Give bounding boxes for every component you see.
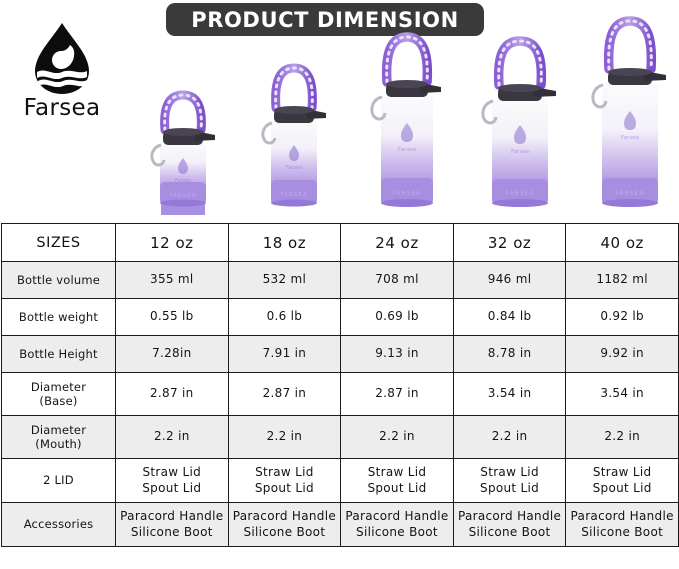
cell-value: Straw Lid Spout Lid <box>566 459 679 503</box>
brand-logo: Farsea <box>14 22 110 120</box>
cell-value: 0.6 lb <box>228 299 341 336</box>
row-label-line1: Diameter <box>4 380 113 394</box>
cell-line1: Straw Lid <box>456 465 564 480</box>
cell-line1: Paracord Handle <box>118 509 226 524</box>
header-32oz: 32 oz <box>453 224 566 262</box>
cell-line2: Silicone Boot <box>118 525 226 540</box>
table-row: Bottle Height 7.28in 7.91 in 9.13 in 8.7… <box>2 336 679 373</box>
cell-value: 0.84 lb <box>453 299 566 336</box>
row-label: Bottle Height <box>2 336 116 373</box>
row-label: Diameter (Base) <box>2 373 116 416</box>
cell-line2: Silicone Boot <box>456 525 564 540</box>
cell-line2: Spout Lid <box>231 481 339 496</box>
bottle-12oz: Farsea FARSEA <box>137 55 233 215</box>
cell-value: Straw Lid Spout Lid <box>453 459 566 503</box>
header-40oz: 40 oz <box>566 224 679 262</box>
cell-value: Paracord Handle Silicone Boot <box>116 503 229 547</box>
row-label: Bottle volume <box>2 262 116 299</box>
row-label-line2: (Mouth) <box>4 437 113 451</box>
table-row: Diameter (Base) 2.87 in 2.87 in 2.87 in … <box>2 373 679 416</box>
cell-value: 2.2 in <box>566 416 679 459</box>
cell-value: Straw Lid Spout Lid <box>341 459 454 503</box>
cell-value: 8.78 in <box>453 336 566 373</box>
svg-text:FARSEA: FARSEA <box>616 190 645 197</box>
cell-value: 7.28in <box>116 336 229 373</box>
cell-line2: Silicone Boot <box>343 525 451 540</box>
water-drop-wave-icon <box>29 22 95 96</box>
row-label: Accessories <box>2 503 116 547</box>
bottle-18oz: Farsea FARSEA <box>248 35 344 215</box>
bottle-32oz: Farsea FARSEA <box>468 23 572 215</box>
brand-name: Farsea <box>14 97 110 120</box>
cell-value: Paracord Handle Silicone Boot <box>453 503 566 547</box>
cell-line1: Straw Lid <box>118 465 226 480</box>
cell-value: 2.2 in <box>453 416 566 459</box>
cell-value: Paracord Handle Silicone Boot <box>566 503 679 547</box>
cell-value: 0.92 lb <box>566 299 679 336</box>
cell-value: 3.54 in <box>453 373 566 416</box>
cell-value: Straw Lid Spout Lid <box>228 459 341 503</box>
cell-value: Paracord Handle Silicone Boot <box>341 503 454 547</box>
table-row: Accessories Paracord Handle Silicone Boo… <box>2 503 679 547</box>
cell-value: 2.2 in <box>228 416 341 459</box>
cell-line1: Paracord Handle <box>568 509 676 524</box>
cell-value: 2.87 in <box>341 373 454 416</box>
cell-line2: Spout Lid <box>343 481 451 496</box>
cell-line2: Silicone Boot <box>231 525 339 540</box>
cell-line1: Paracord Handle <box>231 509 339 524</box>
specifications-table: SIZES 12 oz 18 oz 24 oz 32 oz 40 oz Bott… <box>1 223 679 547</box>
cell-value: 9.13 in <box>341 336 454 373</box>
cell-value: 2.2 in <box>116 416 229 459</box>
cell-line2: Spout Lid <box>568 481 676 496</box>
svg-text:FARSEA: FARSEA <box>393 190 422 197</box>
cell-line1: Straw Lid <box>343 465 451 480</box>
header-24oz: 24 oz <box>341 224 454 262</box>
cell-line1: Paracord Handle <box>343 509 451 524</box>
cell-value: 7.91 in <box>228 336 341 373</box>
cell-line1: Straw Lid <box>568 465 676 480</box>
svg-text:Farsea: Farsea <box>621 135 639 141</box>
product-dimension-infographic: Farsea PRODUCT DIMENSION <box>0 0 679 569</box>
svg-text:FARSEA: FARSEA <box>506 190 535 197</box>
row-label: Bottle weight <box>2 299 116 336</box>
cell-value: 355 ml <box>116 262 229 299</box>
svg-text:Farsea: Farsea <box>511 149 529 155</box>
cell-value: 946 ml <box>453 262 566 299</box>
cell-value: 9.92 in <box>566 336 679 373</box>
hero-section: Farsea PRODUCT DIMENSION <box>0 0 679 223</box>
cell-value: 0.69 lb <box>341 299 454 336</box>
table-row: Diameter (Mouth) 2.2 in 2.2 in 2.2 in 2.… <box>2 416 679 459</box>
cell-line2: Spout Lid <box>456 481 564 496</box>
svg-text:Farsea: Farsea <box>175 178 191 184</box>
cell-line1: Straw Lid <box>231 465 339 480</box>
bottle-24oz: Farsea FARSEA <box>357 17 457 215</box>
cell-line2: Spout Lid <box>118 481 226 496</box>
svg-text:Farsea: Farsea <box>398 147 416 153</box>
svg-text:FARSEA: FARSEA <box>170 193 197 199</box>
cell-value: Paracord Handle Silicone Boot <box>228 503 341 547</box>
table-row: Bottle volume 355 ml 532 ml 708 ml 946 m… <box>2 262 679 299</box>
header-sizes: SIZES <box>2 224 116 262</box>
bottle-40oz: Farsea FARSEA <box>578 7 679 215</box>
svg-text:FARSEA: FARSEA <box>281 192 308 198</box>
cell-value: 1182 ml <box>566 262 679 299</box>
cell-value: 2.2 in <box>341 416 454 459</box>
cell-value: 708 ml <box>341 262 454 299</box>
table-row: Bottle weight 0.55 lb 0.6 lb 0.69 lb 0.8… <box>2 299 679 336</box>
cell-value: 532 ml <box>228 262 341 299</box>
svg-text:Farsea: Farsea <box>286 165 302 171</box>
cell-value: 0.55 lb <box>116 299 229 336</box>
header-18oz: 18 oz <box>228 224 341 262</box>
row-label: 2 LID <box>2 459 116 503</box>
table-row: 2 LID Straw Lid Spout Lid Straw Lid Spou… <box>2 459 679 503</box>
row-label: Diameter (Mouth) <box>2 416 116 459</box>
cell-line2: Silicone Boot <box>568 525 676 540</box>
cell-value: Straw Lid Spout Lid <box>116 459 229 503</box>
cell-value: 3.54 in <box>566 373 679 416</box>
table-header-row: SIZES 12 oz 18 oz 24 oz 32 oz 40 oz <box>2 224 679 262</box>
cell-value: 2.87 in <box>228 373 341 416</box>
cell-value: 2.87 in <box>116 373 229 416</box>
row-label-line2: (Base) <box>4 394 113 408</box>
cell-line1: Paracord Handle <box>456 509 564 524</box>
header-12oz: 12 oz <box>116 224 229 262</box>
row-label-line1: Diameter <box>4 423 113 437</box>
